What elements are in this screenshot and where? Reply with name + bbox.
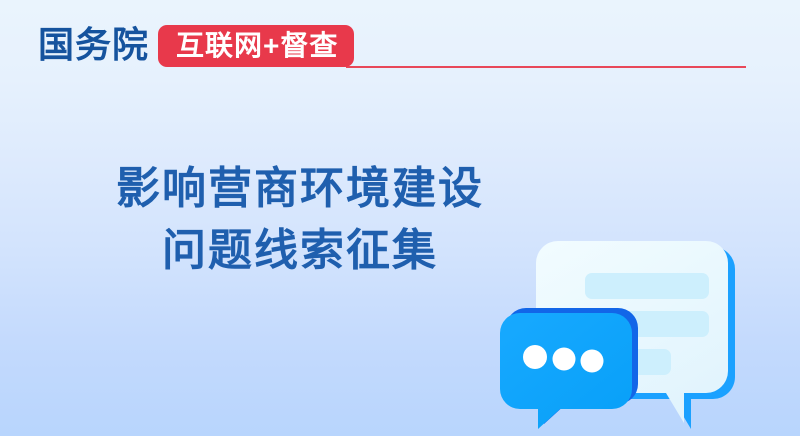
- banner-header: 国务院 互联网+督查: [0, 0, 800, 90]
- header-divider-rule: [346, 66, 746, 68]
- program-badge: 互联网+督查: [158, 25, 354, 67]
- gov-mark-label: 国务院: [38, 24, 149, 66]
- promo-banner: 国务院 互联网+督查 影响营商环境建设 问题线索征集: [0, 0, 800, 436]
- banner-title-block: 影响营商环境建设 问题线索征集: [60, 158, 540, 282]
- banner-title-line-2: 问题线索征集: [60, 220, 540, 282]
- small-bubble-body: [500, 313, 632, 429]
- small-chat-bubble: [500, 308, 638, 429]
- program-badge-label: 互联网+督查: [176, 32, 338, 60]
- large-bubble-content-bar-1: [585, 273, 709, 299]
- small-bubble-dot-2: [553, 348, 576, 371]
- small-bubble-dot-3: [581, 350, 604, 373]
- small-bubble-dot-1: [523, 345, 547, 369]
- chat-bubbles-svg: [490, 215, 760, 436]
- banner-title-line-1: 影响营商环境建设: [60, 158, 540, 220]
- chat-bubbles-illustration: [490, 215, 760, 436]
